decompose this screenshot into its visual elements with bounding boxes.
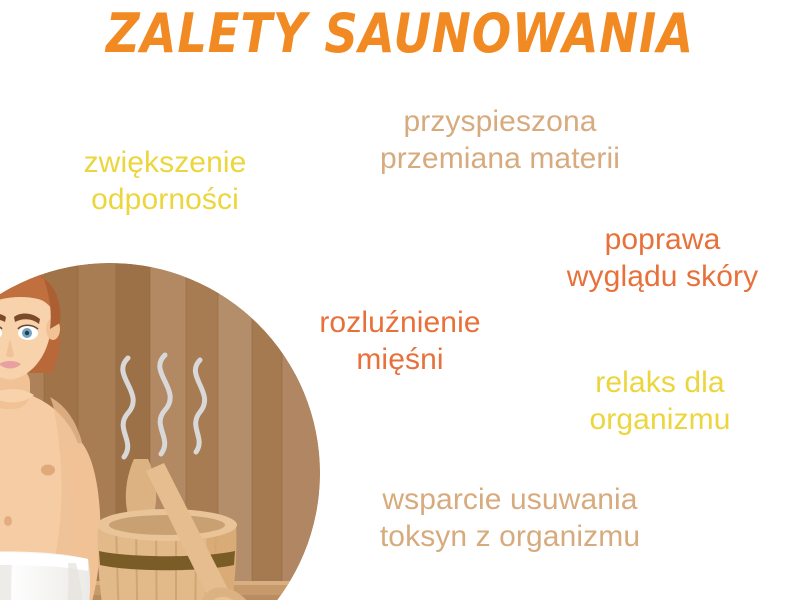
white-towel xyxy=(0,552,90,600)
benefit-label-poprawa-wygladu-skory: poprawa wyglądu skóry xyxy=(530,222,795,295)
illustration-content xyxy=(0,263,320,600)
benefit-label-zwiekszenie-odpornosci: zwiększenie odporności xyxy=(40,145,290,218)
sauna-illustration xyxy=(0,263,320,600)
benefit-label-przyspieszona-przemiana-materii: przyspieszona przemiana materii xyxy=(330,104,670,177)
benefit-label-relaks-dla-organizmu: relaks dla organizmu xyxy=(545,365,775,438)
page-title: ZALETY SAUNOWANIA xyxy=(56,6,744,63)
benefit-label-wsparcie-usuwania-toksyn: wsparcie usuwania toksyn z organizmu xyxy=(345,482,675,555)
benefit-label-rozluznienie-miesni: rozluźnienie mięśni xyxy=(285,305,515,378)
poster-canvas: ZALETY SAUNOWANIA przyspieszona przemian… xyxy=(0,0,800,600)
